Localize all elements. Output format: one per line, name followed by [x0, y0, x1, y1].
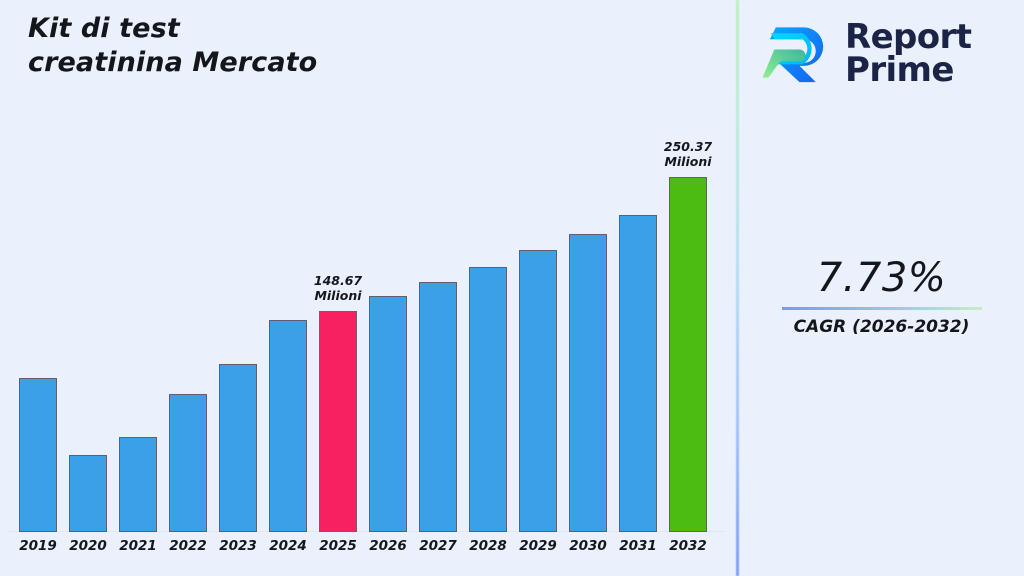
bar-chart-plot: 148.67 Milioni 250.37 Milioni 2019 [0, 0, 737, 576]
x-tick-2024: 2024 [263, 538, 313, 554]
data-label-2032-unit: Milioni [645, 154, 731, 169]
bar-2026[interactable] [369, 296, 407, 532]
cagr-value: 7.73% [739, 255, 1024, 301]
brand-name-line2: Prime [845, 50, 954, 90]
bar-2027[interactable] [419, 282, 457, 532]
x-tick-2031: 2031 [613, 538, 663, 554]
bar-2023[interactable] [219, 364, 257, 532]
x-axis-line [8, 531, 725, 532]
x-tick-2025: 2025 [313, 538, 363, 554]
bar-2020[interactable] [69, 455, 107, 532]
bar-2021[interactable] [119, 437, 157, 532]
x-tick-2029: 2029 [513, 538, 563, 554]
data-label-2032-value: 250.37 [645, 139, 731, 154]
x-tick-2020: 2020 [63, 538, 113, 554]
report-prime-logo-icon [761, 17, 835, 91]
x-tick-2032: 2032 [663, 538, 713, 554]
x-tick-2022: 2022 [163, 538, 213, 554]
bar-2029[interactable] [519, 250, 557, 532]
chart-panel: Kit di test creatinina Mercato 148.67 Mi… [0, 0, 737, 576]
brand-logo[interactable]: Report Prime [761, 14, 1011, 94]
brand-name: Report Prime [845, 21, 971, 87]
bar-2030[interactable] [569, 234, 607, 532]
bar-2031[interactable] [619, 215, 657, 532]
x-tick-2023: 2023 [213, 538, 263, 554]
bar-2024[interactable] [269, 320, 307, 532]
cagr-block: 7.73% CAGR (2026-2032) [739, 255, 1024, 338]
cagr-divider-rule [782, 307, 982, 310]
bar-2028[interactable] [469, 267, 507, 532]
bar-2022[interactable] [169, 394, 207, 532]
bar-2019[interactable] [19, 378, 57, 532]
data-label-2025-value: 148.67 [295, 273, 381, 288]
infographic-canvas: Kit di test creatinina Mercato 148.67 Mi… [0, 0, 1024, 576]
cagr-caption: CAGR (2026-2032) [739, 316, 1024, 338]
bar-2025[interactable] [319, 311, 357, 532]
x-tick-2028: 2028 [463, 538, 513, 554]
bar-2032[interactable] [669, 177, 707, 532]
summary-panel: Report Prime 7.73% CAGR (2026-2032) [739, 0, 1024, 576]
data-label-2032: 250.37 Milioni [645, 139, 731, 169]
x-tick-2030: 2030 [563, 538, 613, 554]
x-tick-2021: 2021 [113, 538, 163, 554]
x-tick-2027: 2027 [413, 538, 463, 554]
x-tick-2026: 2026 [363, 538, 413, 554]
x-tick-2019: 2019 [13, 538, 63, 554]
